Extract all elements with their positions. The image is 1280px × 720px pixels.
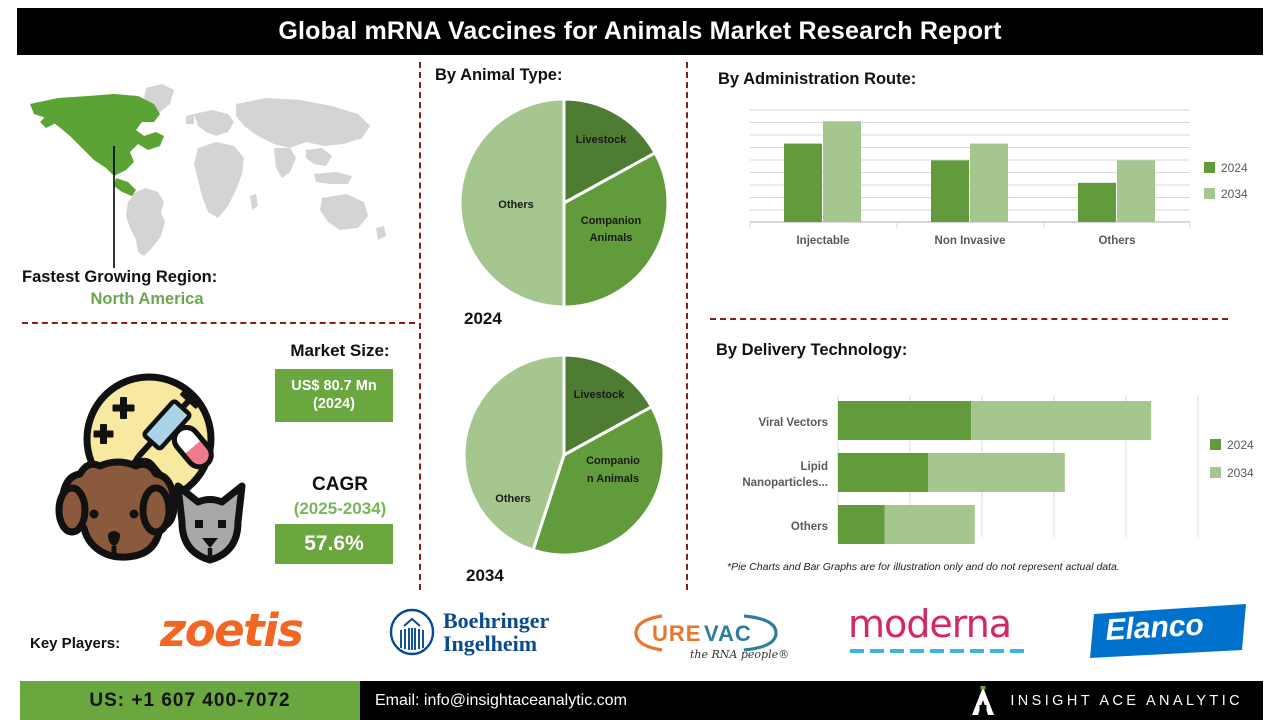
svg-text:VAC: VAC: [704, 621, 752, 646]
pie-2024-slice-label-others: Others: [498, 199, 533, 211]
boehringer-mark-icon: [388, 608, 436, 656]
pie-2034-slice-label-livestock: Livestock: [574, 389, 626, 401]
pie-chart-2034: Livestock Companio n Animals Others: [453, 352, 675, 562]
key-players-label: Key Players:: [30, 635, 120, 652]
fastest-region-label: Fastest Growing Region:: [22, 268, 272, 287]
bar-lipid-nanoparticles-2024: [838, 453, 928, 492]
curevac-tagline: the RNA people®: [690, 648, 789, 661]
bar-viral-vectors-2034: [971, 401, 1151, 440]
moderna-dash-accent-icon: [848, 646, 1043, 656]
svg-text:URE: URE: [652, 621, 701, 646]
logo-curevac: URE VAC the RNA people®: [632, 608, 807, 663]
logo-moderna-text: moderna: [848, 605, 1043, 643]
chart-administration-route: Injectable Non Invasive Others 2024 2034: [710, 100, 1270, 260]
page-title: Global mRNA Vaccines for Animals Market …: [278, 17, 1001, 46]
dog-head: [59, 462, 174, 557]
chart-delivery-technology: Viral Vectors Lipid Nanoparticles... Oth…: [710, 385, 1270, 555]
divider-vertical-left: [419, 62, 421, 590]
axis-label-non-invasive: Non Invasive: [935, 235, 1006, 247]
pie-2024-slice-label-companion2: Animals: [590, 232, 633, 244]
chart-footnote: *Pie Charts and Bar Graphs are for illus…: [727, 561, 1197, 573]
divider-horizontal-left: [22, 322, 415, 324]
footer-brand-name: INSIGHT ACE ANALYTIC: [1010, 693, 1243, 709]
pie-2024-slice-label-companion: Companion: [581, 215, 642, 227]
axis-label-others: Others: [1098, 235, 1135, 247]
section-title-administration-route: By Administration Route:: [718, 70, 916, 89]
bar-others-2034: [1117, 160, 1155, 222]
logo-zoetis-text: zoetis: [160, 604, 302, 657]
footer-bar: US: +1 607 400-7072 Email: info@insighta…: [0, 681, 1280, 720]
logo-zoetis: zoetis: [160, 604, 335, 656]
cagr-value: 57.6%: [304, 531, 364, 557]
legend-label-delivery-2024: 2024: [1227, 438, 1254, 452]
market-size-label: Market Size:: [265, 341, 415, 361]
axis-label-delivery-others: Others: [791, 521, 828, 533]
pie-2024-slice-label-livestock: Livestock: [576, 134, 628, 146]
cagr-value-box: 57.6%: [275, 524, 393, 564]
legend-swatch-2034: [1204, 188, 1215, 199]
bar-injectable-2034: [823, 121, 861, 222]
world-map: [18, 70, 410, 270]
legend-swatch-delivery-2024: [1210, 439, 1221, 450]
pie-2034-year: 2034: [466, 566, 504, 586]
bar-noninvasive-2034: [970, 144, 1008, 222]
bar-delivery-others-2034: [885, 505, 975, 544]
cagr-range: (2025-2034): [265, 499, 415, 519]
legend-label-delivery-2034: 2034: [1227, 466, 1254, 480]
north-america-highlight: [30, 94, 164, 196]
logo-boehringer-ingelheim: Boehringer Ingelheim: [388, 606, 598, 658]
bar-delivery-others-2024: [838, 505, 885, 544]
logo-bi-line2: Ingelheim: [443, 632, 549, 655]
bar-injectable-2024: [784, 144, 822, 222]
bar-noninvasive-2024: [931, 160, 969, 222]
logo-bi-line1: Boehringer: [443, 609, 549, 632]
dog-cat-vaccine-icon: [32, 362, 264, 577]
divider-horizontal-right: [710, 318, 1228, 320]
legend-label-2024: 2024: [1221, 161, 1248, 175]
axis-label-lipid-nanoparticles: Lipid: [801, 461, 828, 473]
bar-viral-vectors-2024: [838, 401, 971, 440]
fastest-region-value: North America: [22, 290, 272, 309]
legend-label-2034: 2034: [1221, 187, 1248, 201]
logo-elanco-text: Elanco: [1105, 609, 1205, 647]
legend-swatch-delivery-2034: [1210, 467, 1221, 478]
market-size-year: (2024): [313, 396, 355, 412]
header-bar: Global mRNA Vaccines for Animals Market …: [17, 8, 1263, 55]
bar-lipid-nanoparticles-2034: [928, 453, 1065, 492]
axis-label-viral-vectors: Viral Vectors: [759, 417, 828, 429]
pie-2024-year: 2024: [464, 309, 502, 329]
section-title-animal-type: By Animal Type:: [435, 66, 562, 85]
logo-elanco: Elanco: [1090, 602, 1250, 660]
infographic-page: Global mRNA Vaccines for Animals Market …: [0, 0, 1280, 720]
footer-brand: INSIGHT ACE ANALYTIC: [970, 681, 1243, 720]
footer-black-box: Email: info@insightaceanalytic.com INSIG…: [360, 681, 1263, 720]
pie-2034-slice-label-companion2: n Animals: [587, 473, 639, 485]
pie-2034-slice-label-companion: Companio: [586, 455, 640, 467]
cagr-label: CAGR: [265, 474, 415, 496]
section-title-delivery-technology: By Delivery Technology:: [716, 341, 907, 360]
insight-ace-a-logo-icon: [970, 686, 996, 716]
pie-2034-slice-label-others: Others: [495, 493, 530, 505]
market-size-value: US$ 80.7 Mn: [291, 378, 376, 394]
axis-label-lipid-nanoparticles2: Nanoparticles...: [742, 477, 828, 489]
market-size-value-box: US$ 80.7 Mn (2024): [275, 369, 393, 422]
footer-phone: US: +1 607 400-7072: [89, 690, 290, 712]
legend-swatch-2024: [1204, 162, 1215, 173]
footer-email[interactable]: Email: info@insightaceanalytic.com: [375, 692, 627, 710]
pie-chart-2024: Livestock Companion Animals Others: [453, 96, 675, 311]
bar-others-2024: [1078, 183, 1116, 222]
logo-moderna: moderna: [848, 608, 1048, 658]
divider-vertical-right: [686, 62, 688, 590]
footer-phone-box: US: +1 607 400-7072: [20, 681, 360, 720]
axis-label-injectable: Injectable: [796, 235, 849, 247]
cat-head: [178, 486, 242, 560]
